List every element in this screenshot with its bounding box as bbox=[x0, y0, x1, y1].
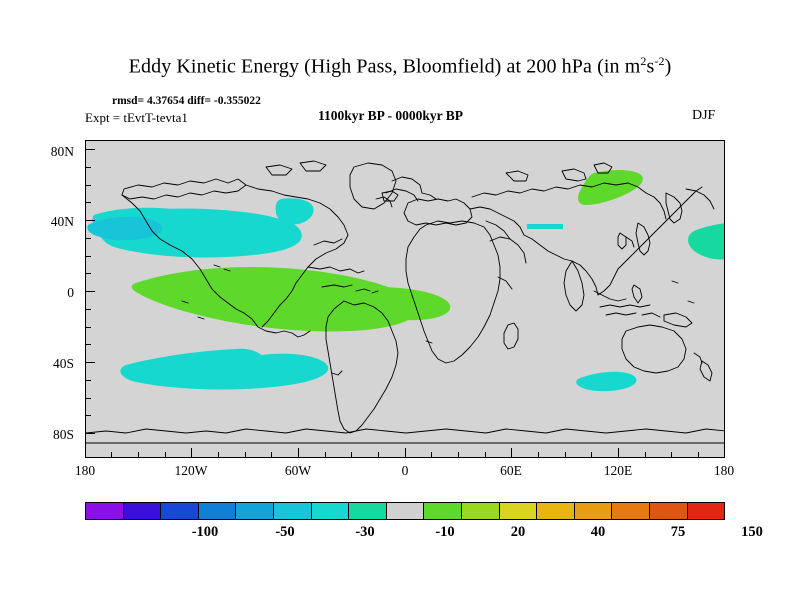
xtick-minor bbox=[111, 452, 112, 458]
colorbar-segment-15 bbox=[650, 503, 688, 519]
ytick-minor bbox=[85, 167, 91, 168]
ytick-major bbox=[85, 362, 95, 363]
xtick-label-120e: 120E bbox=[588, 464, 648, 478]
xtick-minor bbox=[591, 452, 592, 458]
title-exponent-2: -2 bbox=[654, 54, 664, 68]
xtick-major bbox=[85, 448, 86, 458]
ytick-major bbox=[85, 291, 95, 292]
xtick-minor bbox=[671, 452, 672, 458]
xtick-minor bbox=[165, 452, 166, 458]
ytick-minor bbox=[85, 256, 91, 257]
colorbar-segment-10 bbox=[462, 503, 500, 519]
experiment-label: Expt = tEvtT-tevta1 bbox=[85, 110, 188, 126]
ytick-minor bbox=[85, 415, 91, 416]
ytick-label-80n: 80N bbox=[26, 145, 74, 159]
colorbar-label-6: 75 bbox=[643, 524, 713, 541]
colorbar-segment-0 bbox=[86, 503, 124, 519]
colorbar-label-0: -100 bbox=[170, 524, 240, 541]
xtick-label-120w: 120W bbox=[161, 464, 221, 478]
colorbar-label-4: 20 bbox=[483, 524, 553, 541]
ytick-minor bbox=[85, 238, 91, 239]
colorbar-label-3: -10 bbox=[410, 524, 480, 541]
colorbar-segment-3 bbox=[199, 503, 237, 519]
colorbar-label-1: -50 bbox=[250, 524, 320, 541]
colorbar-segment-4 bbox=[236, 503, 274, 519]
colorbar-segment-8 bbox=[387, 503, 425, 519]
xtick-major bbox=[298, 448, 299, 458]
ytick-minor bbox=[85, 380, 91, 381]
ytick-minor bbox=[85, 273, 91, 274]
page-title: Eddy Kinetic Energy (High Pass, Bloomfie… bbox=[0, 54, 800, 79]
xtick-minor bbox=[351, 452, 352, 458]
ytick-minor bbox=[85, 327, 91, 328]
ytick-label-0: 0 bbox=[26, 286, 74, 300]
ytick-label-80s: 80S bbox=[26, 428, 74, 442]
xtick-label-60w: 60W bbox=[268, 464, 328, 478]
xtick-major bbox=[618, 448, 619, 458]
xtick-minor bbox=[485, 452, 486, 458]
colorbar-label-7: 150 bbox=[717, 524, 787, 541]
ytick-major bbox=[85, 149, 95, 150]
colorbar-segment-16 bbox=[688, 503, 725, 519]
ytick-minor bbox=[85, 202, 91, 203]
ytick-minor bbox=[85, 398, 91, 399]
xtick-major bbox=[724, 448, 725, 458]
xtick-minor bbox=[698, 452, 699, 458]
colorbar-segment-14 bbox=[612, 503, 650, 519]
xtick-label-0: 0 bbox=[375, 464, 435, 478]
colorbar-segment-9 bbox=[424, 503, 462, 519]
title-text-main: Eddy Kinetic Energy (High Pass, Bloomfie… bbox=[129, 56, 641, 78]
xtick-minor bbox=[218, 452, 219, 458]
xtick-minor bbox=[458, 452, 459, 458]
xtick-minor bbox=[378, 452, 379, 458]
contour-layer bbox=[87, 170, 725, 391]
map-plot-area bbox=[85, 140, 725, 458]
xtick-minor bbox=[245, 452, 246, 458]
rmsd-statistics: rmsd= 4.37654 diff= -0.355022 bbox=[112, 95, 261, 107]
colorbar-label-2: -30 bbox=[330, 524, 400, 541]
xtick-minor bbox=[538, 452, 539, 458]
colorbar-segment-7 bbox=[349, 503, 387, 519]
colorbar-segment-6 bbox=[312, 503, 350, 519]
colorbar-segment-1 bbox=[124, 503, 162, 519]
colorbar-segment-5 bbox=[274, 503, 312, 519]
xtick-minor bbox=[138, 452, 139, 458]
xtick-label-180e: 180 bbox=[694, 464, 754, 478]
xtick-major bbox=[191, 448, 192, 458]
colorbar-segment-13 bbox=[575, 503, 613, 519]
colorbar-segment-11 bbox=[500, 503, 538, 519]
colorbar[interactable] bbox=[85, 502, 725, 520]
ytick-major bbox=[85, 220, 95, 221]
colorbar-segment-2 bbox=[161, 503, 199, 519]
ytick-minor bbox=[85, 344, 91, 345]
ytick-minor bbox=[85, 185, 91, 186]
xtick-label-180w: 180 bbox=[55, 464, 115, 478]
ytick-minor bbox=[85, 309, 91, 310]
title-text-end: ) bbox=[665, 56, 672, 78]
ytick-label-40n: 40N bbox=[26, 215, 74, 229]
colorbar-segment-12 bbox=[537, 503, 575, 519]
xtick-major bbox=[405, 448, 406, 458]
xtick-label-60e: 60E bbox=[481, 464, 541, 478]
world-map-svg bbox=[86, 141, 725, 458]
xtick-minor bbox=[325, 452, 326, 458]
period-label: 1100kyr BP - 0000kyr BP bbox=[318, 108, 463, 124]
xtick-minor bbox=[431, 452, 432, 458]
xtick-minor bbox=[645, 452, 646, 458]
xtick-minor bbox=[271, 452, 272, 458]
season-label: DJF bbox=[692, 108, 715, 124]
ytick-label-40s: 40S bbox=[26, 357, 74, 371]
xtick-major bbox=[511, 448, 512, 458]
colorbar-label-5: 40 bbox=[563, 524, 633, 541]
ytick-major bbox=[85, 433, 95, 434]
xtick-minor bbox=[565, 452, 566, 458]
figure-canvas: Eddy Kinetic Energy (High Pass, Bloomfie… bbox=[0, 0, 800, 600]
